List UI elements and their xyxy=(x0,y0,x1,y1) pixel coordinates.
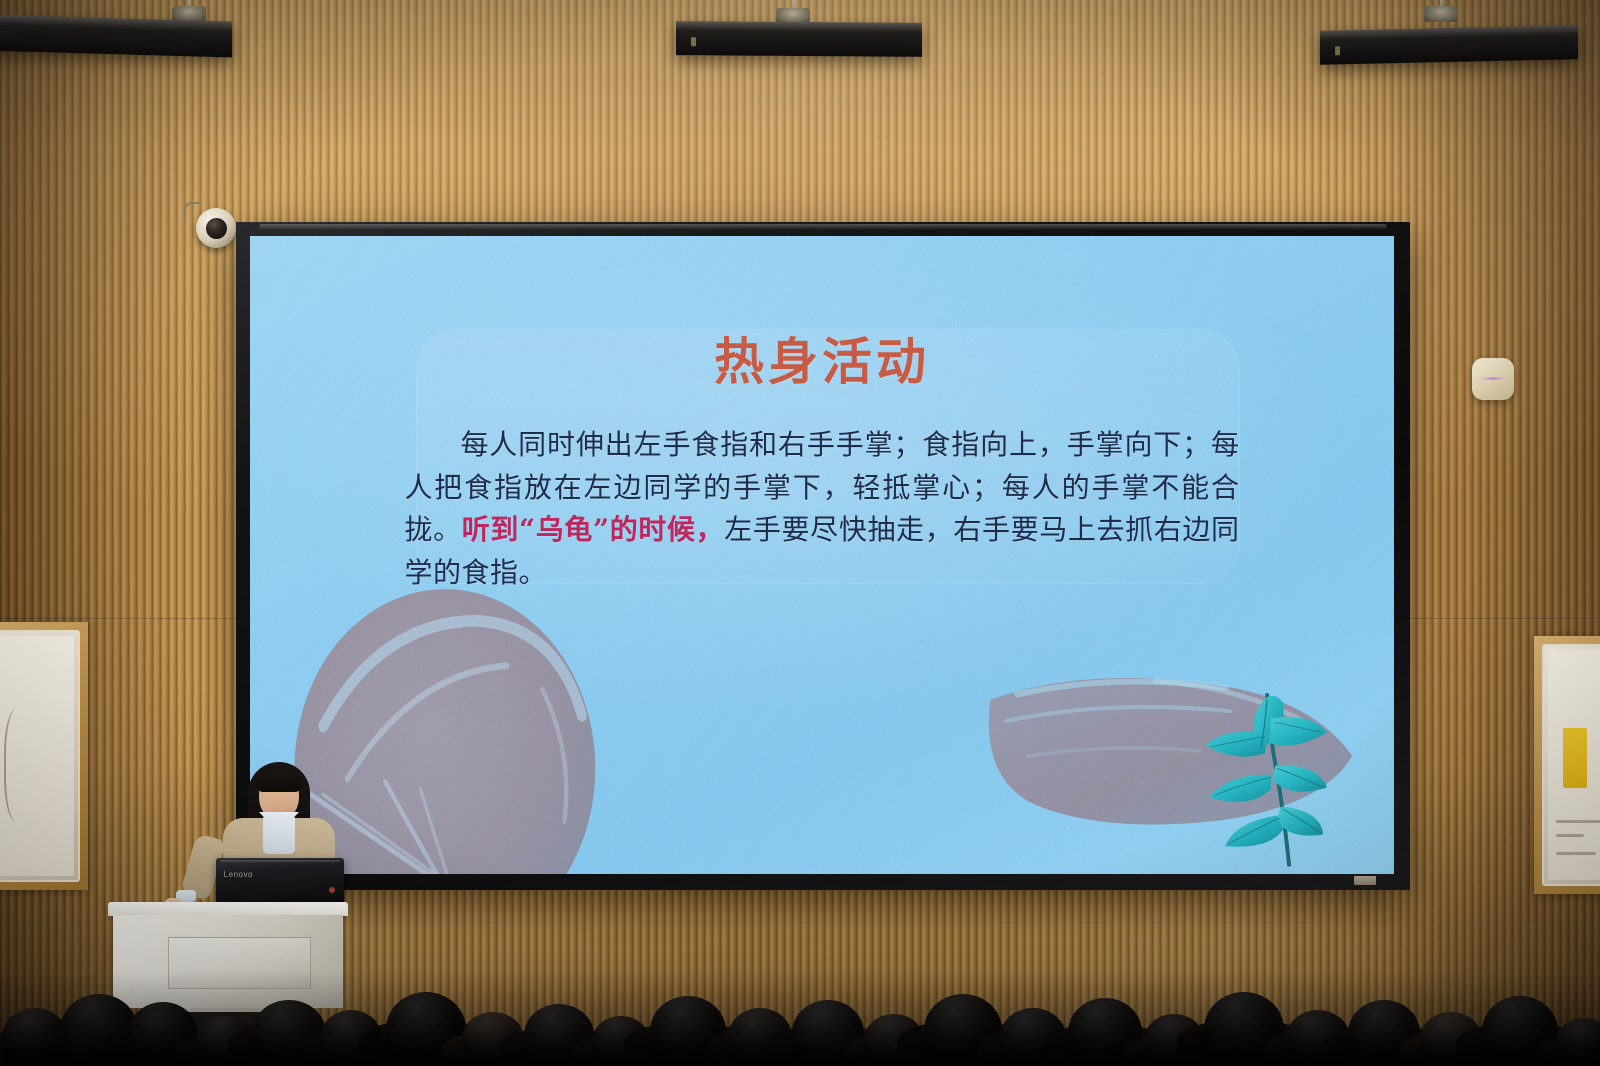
laptop-indicator-dot xyxy=(329,887,335,893)
podium-top-surface xyxy=(108,902,348,916)
slide-title: 热身活动 xyxy=(250,322,1394,394)
podium-laptop[interactable]: Lenovo xyxy=(216,858,344,904)
presentation-slide: 热身活动 每人同时伸出左手食指和右手手掌；食指向上，手掌向下；每人把食指放在左边… xyxy=(250,236,1394,874)
laptop-lid xyxy=(216,858,344,904)
audience-row xyxy=(0,936,1600,1066)
wireless-access-point-icon xyxy=(1472,358,1514,400)
leaf-sprig-decoration xyxy=(1171,679,1331,870)
audience-head xyxy=(2,1008,68,1066)
slide-body-highlight: 听到“乌龟”的时候， xyxy=(462,513,725,546)
presenter-fringe xyxy=(256,768,302,792)
audience-head xyxy=(1556,1018,1600,1066)
dome-camera-icon xyxy=(196,208,236,248)
audience-eyeglasses xyxy=(1072,1039,1094,1046)
framed-wall-panel-right xyxy=(1534,636,1600,894)
slide-body-text: 每人同时伸出左手食指和右手手掌；食指向上，手掌向下；每人把食指放在左边同学的手掌… xyxy=(404,424,1239,594)
projection-screen-frame: 热身活动 每人同时伸出左手食指和右手手掌；食指向上，手掌向下；每人把食指放在左边… xyxy=(236,222,1410,890)
screen-brand-badge xyxy=(1354,876,1376,885)
laptop-brand-logo: Lenovo xyxy=(224,870,253,879)
framed-wall-panel-left xyxy=(0,622,88,890)
presenter-shirt xyxy=(263,814,295,854)
lecture-hall-scene: 热身活动 每人同时伸出左手食指和右手手掌；食指向上，手掌向下；每人把食指放在左边… xyxy=(0,0,1600,1066)
